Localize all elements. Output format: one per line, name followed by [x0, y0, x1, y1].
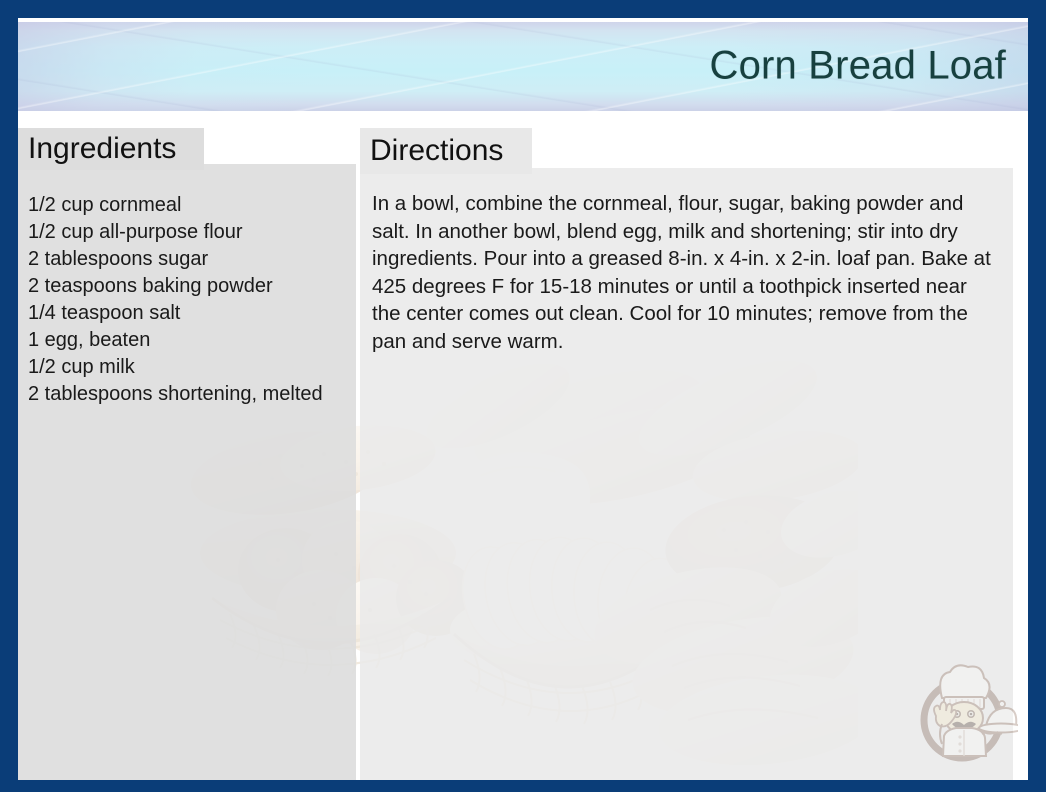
- directions-text: In a bowl, combine the cornmeal, flour, …: [372, 190, 995, 355]
- ingredients-list: 1/2 cup cornmeal 1/2 cup all-purpose flo…: [28, 192, 340, 408]
- list-item: 2 tablespoons sugar: [28, 246, 340, 273]
- list-item: 1 egg, beaten: [28, 327, 340, 354]
- ingredients-tab: Ingredients: [18, 128, 204, 170]
- list-item: 2 teaspoons baking powder: [28, 273, 340, 300]
- directions-panel-body: In a bowl, combine the cornmeal, flour, …: [360, 168, 1013, 780]
- list-item: 1/2 cup cornmeal: [28, 192, 340, 219]
- list-item: 2 tablespoons shortening, melted: [28, 381, 340, 408]
- list-item: 1/2 cup all-purpose flour: [28, 219, 340, 246]
- directions-heading: Directions: [370, 136, 503, 166]
- slide-page: Corn Bread Loaf: [18, 18, 1028, 780]
- page-title: Corn Bread Loaf: [709, 43, 1006, 88]
- directions-panel: In a bowl, combine the cornmeal, flour, …: [360, 128, 1013, 780]
- ingredients-panel-body: 1/2 cup cornmeal 1/2 cup all-purpose flo…: [18, 164, 356, 780]
- ingredients-panel: 1/2 cup cornmeal 1/2 cup all-purpose flo…: [18, 128, 356, 780]
- header-banner: Corn Bread Loaf: [18, 22, 1028, 111]
- directions-tab: Directions: [360, 128, 532, 174]
- ingredients-heading: Ingredients: [28, 134, 176, 164]
- slide-frame: Corn Bread Loaf: [0, 0, 1046, 792]
- list-item: 1/2 cup milk: [28, 354, 340, 381]
- list-item: 1/4 teaspoon salt: [28, 300, 340, 327]
